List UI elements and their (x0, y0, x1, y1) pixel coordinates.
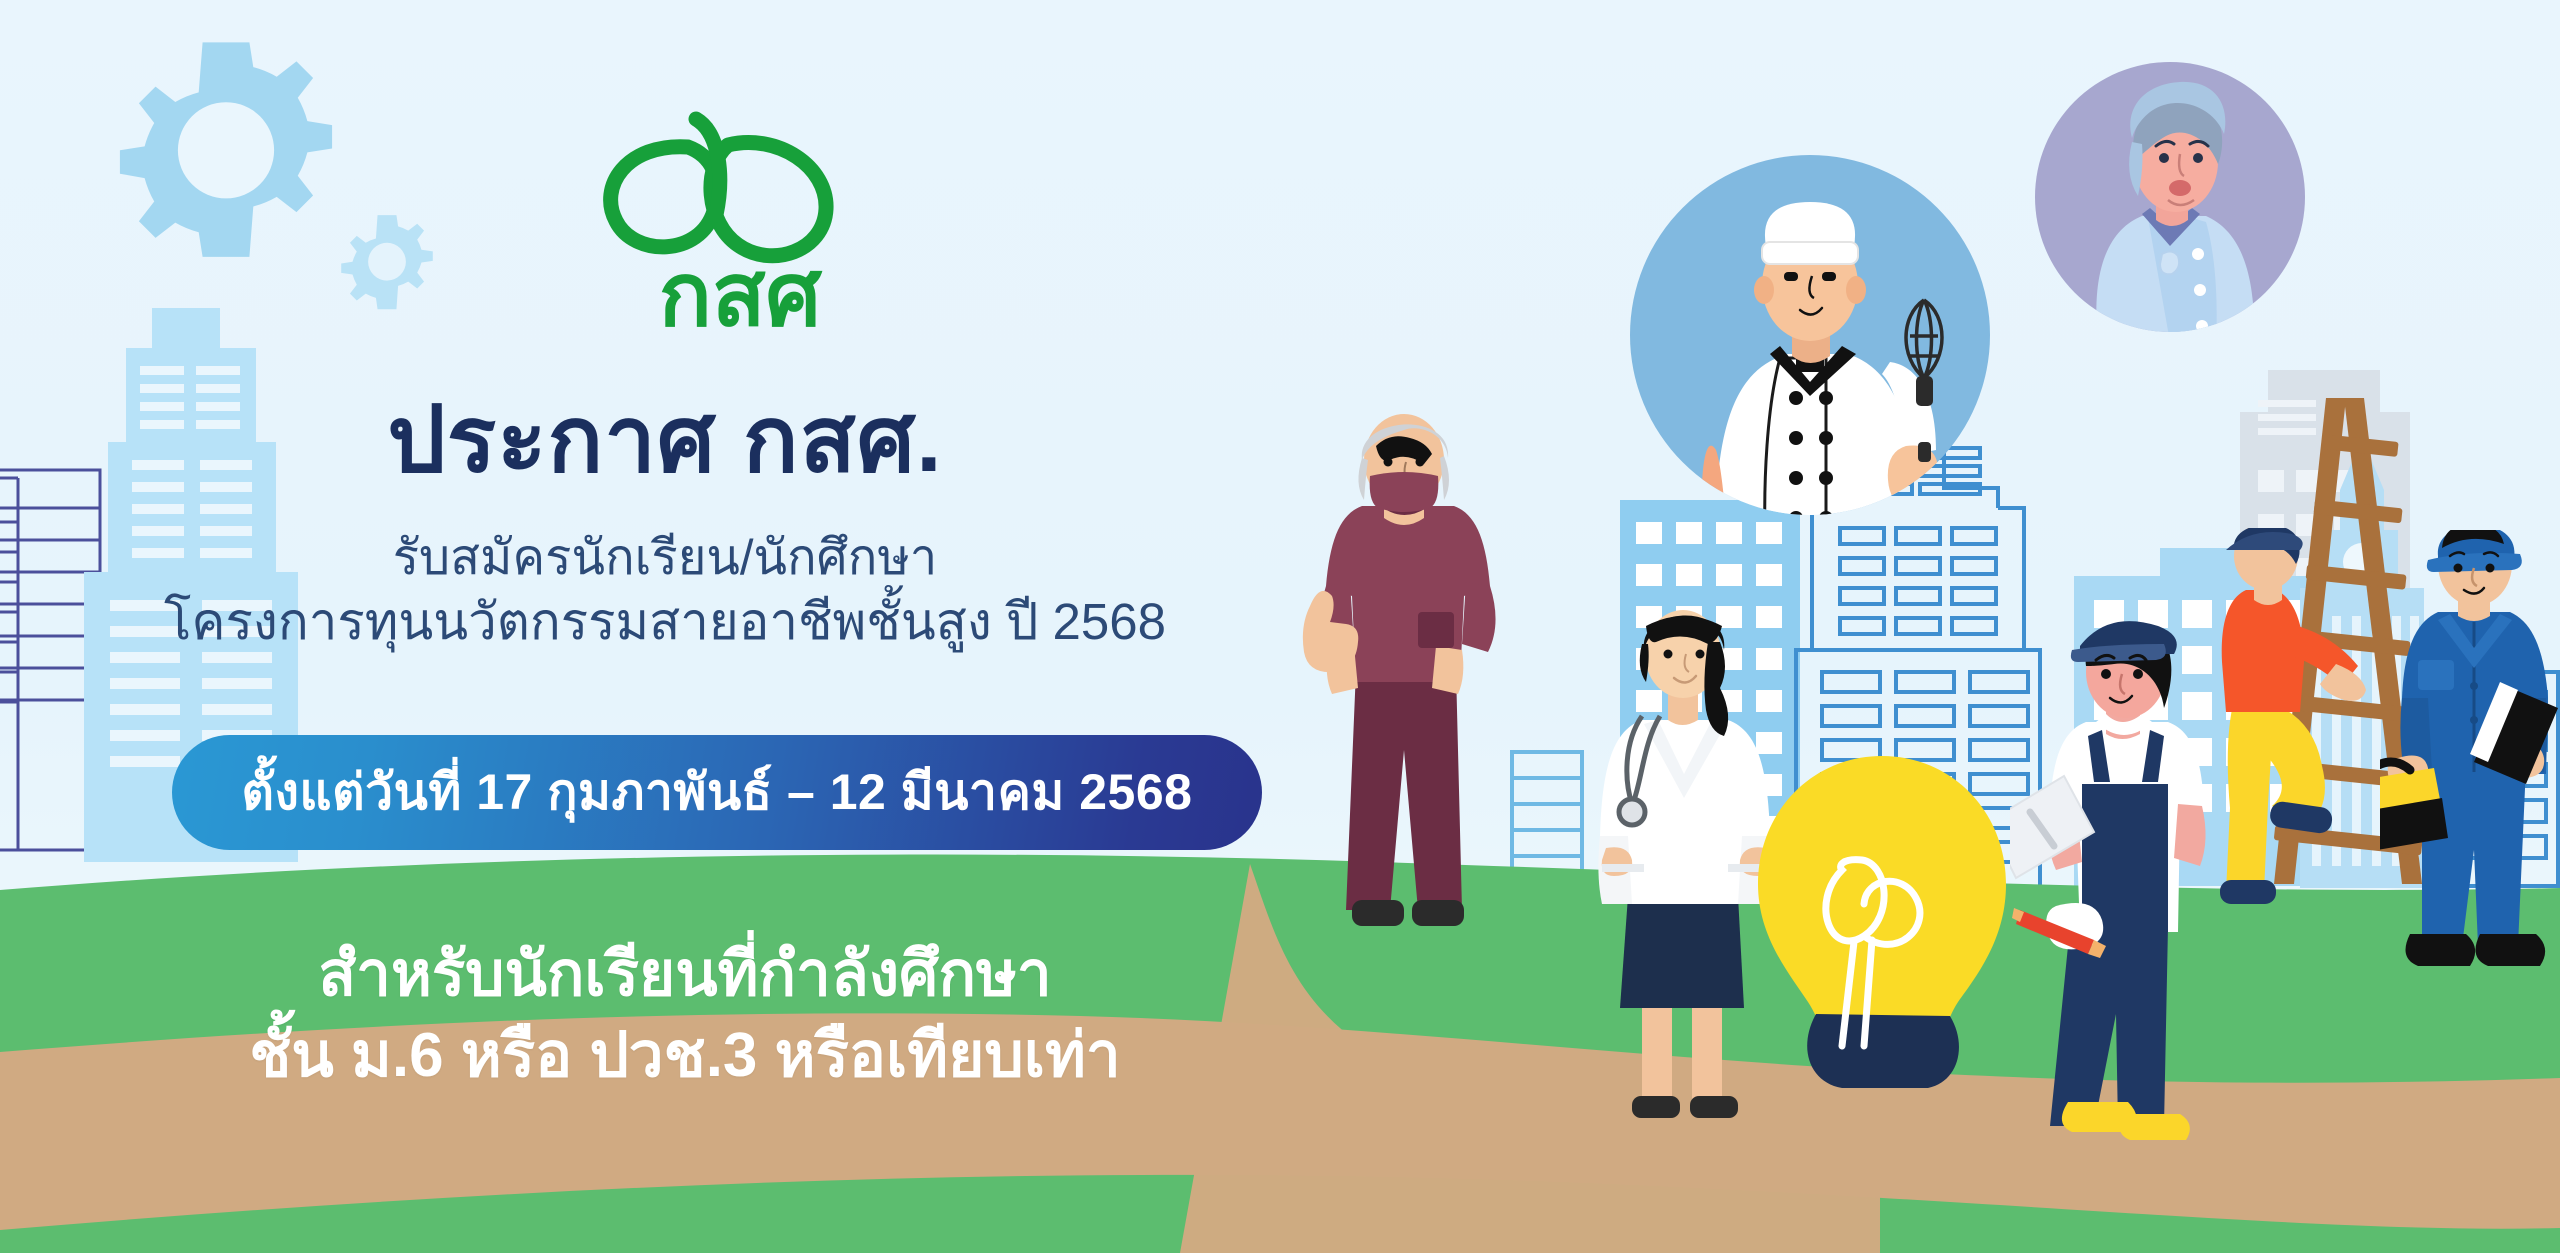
subtitle-line-2: โครงการทุนนวัตกรรมสายอาชีพชั้นสูง ปี 256… (0, 592, 1330, 652)
gear-large-icon (96, 32, 356, 292)
poster-banner: กสศ ประกาศ กสศ. รับสมัครนักเรียน/นักศึกษ… (0, 0, 2560, 1253)
elderly-man-thumbs-up (1300, 400, 1510, 960)
eligibility-line-1: สำหรับนักเรียนที่กำลังศึกษา (0, 935, 1370, 1016)
light-bulb (1742, 746, 2022, 1146)
eligibility-line-2: ชั้น ม.6 หรือ ปวช.3 หรือเทียบเท่า (0, 1016, 1370, 1097)
eligibility-text: สำหรับนักเรียนที่กำลังศึกษา ชั้น ม.6 หรื… (0, 935, 1370, 1096)
nurse-in-circle (2020, 42, 2320, 342)
logo-left-leaf (611, 147, 718, 247)
application-period-text: ตั้งแต่วันที่ 17 กุมภาพันธ์ – 12 มีนาคม … (242, 753, 1193, 832)
subtitle-line-1: รับสมัครนักเรียน/นักศึกษา (0, 530, 1330, 588)
page-title: ประกาศ กสศ. (0, 392, 1330, 489)
logo-wordmark: กสศ (659, 245, 823, 335)
bulb-base (1807, 1014, 1959, 1088)
logo-right-leaf (711, 143, 826, 256)
engineer-with-blueprint (2010, 616, 2240, 1156)
technician-with-toolbox (2380, 530, 2560, 1000)
application-period-badge[interactable]: ตั้งแต่วันที่ 17 กุมภาพันธ์ – 12 มีนาคม … (172, 735, 1262, 850)
kosoksor-logo: กสศ (560, 105, 920, 335)
chef-in-circle (1620, 150, 2010, 560)
